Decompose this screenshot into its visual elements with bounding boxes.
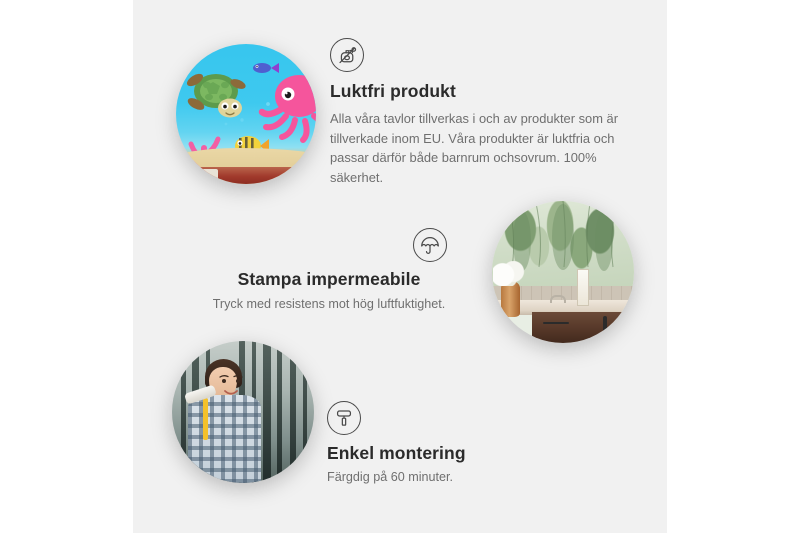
paint-roller-handle	[203, 398, 208, 441]
feature-image-underwater-cartoon-scene-thumbnail	[176, 44, 316, 184]
feature-body: Tryck med resistens mot hög luftfuktighe…	[200, 295, 458, 314]
feature-title: Stampa impermeabile	[200, 269, 458, 290]
white-flowers	[493, 261, 524, 287]
feature-text-block-1: Luktfri produkt Alla våra tavlor tillver…	[330, 38, 630, 188]
no-odour-perfume-bottle-icon	[330, 38, 364, 72]
foreground-band	[176, 167, 316, 184]
woman-plaid-shirt	[188, 395, 262, 483]
umbrella-icon	[413, 228, 447, 262]
circle-mask-1	[176, 44, 316, 184]
product-feature-graphic: Luktfri produkt Alla våra tavlor tillver…	[0, 0, 800, 533]
circle-mask-3	[172, 341, 314, 483]
circle-mask-2	[492, 201, 634, 343]
feature-text-block-3: Enkel montering Färgdig på 60 minuter.	[327, 401, 607, 487]
faucet	[550, 295, 566, 304]
feature-image-woman-with-paint-roller-forest-thumbnail	[172, 341, 314, 483]
wooden-vanity-cabinet	[532, 312, 634, 343]
feature-title: Luktfri produkt	[330, 81, 630, 102]
feature-body: Alla våra tavlor tillverkas i och av pro…	[330, 109, 630, 188]
feature-image-bathroom-tropical-wallpaper-thumbnail	[492, 201, 634, 343]
feature-title: Enkel montering	[327, 443, 607, 464]
paint-roller-icon	[327, 401, 361, 435]
feature-text-block-2: Stampa impermeabile Tryck med resistens …	[200, 228, 458, 314]
soap-bottle	[577, 269, 588, 306]
feature-body: Färgdig på 60 minuter.	[327, 468, 607, 487]
